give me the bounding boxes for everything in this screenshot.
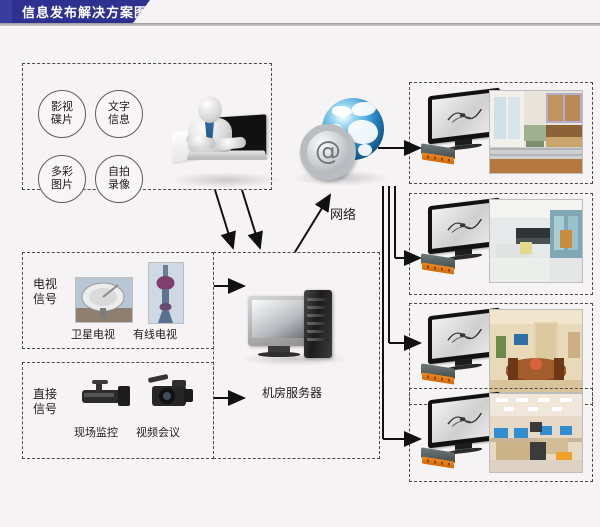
globe-at-icon — [300, 98, 386, 170]
room-photo-2 — [489, 199, 583, 283]
title-divider — [0, 23, 600, 26]
source-circle-1-line2: 碟片 — [51, 114, 73, 127]
arrow-sources-to-server-a — [215, 190, 233, 248]
direct-signal-label-line2: 信号 — [33, 402, 57, 417]
source-circle-2: 文字 信息 — [95, 90, 143, 138]
media-player-box-1 — [421, 146, 455, 165]
server-monitor-base — [258, 352, 300, 357]
room-photo-1 — [489, 90, 583, 174]
satellite-dish-icon — [75, 277, 133, 323]
video-conference-caption: 视频会议 — [136, 424, 180, 440]
tv-tower-icon — [148, 262, 184, 324]
server-monitor — [248, 296, 310, 346]
cctv-camera-icon — [78, 378, 136, 412]
direct-signal-label: 直接 信号 — [33, 387, 57, 417]
title-bar: 信息发布解决方案图 — [0, 0, 600, 26]
direct-signal-label-line1: 直接 — [33, 387, 57, 402]
source-circle-4-line2: 录像 — [108, 179, 130, 192]
media-player-box-3 — [421, 366, 455, 385]
tv-signal-label: 电视 信号 — [33, 277, 57, 307]
camcorder-icon — [142, 372, 198, 414]
at-symbol-icon — [300, 124, 356, 180]
person-at-laptop-icon — [172, 96, 282, 176]
server-caption: 机房服务器 — [262, 384, 322, 401]
media-player-box-4 — [421, 450, 455, 469]
room-photo-3 — [489, 309, 583, 393]
source-circle-4: 自拍 录像 — [95, 155, 143, 203]
room-photo-4 — [489, 393, 583, 473]
site-monitoring-caption: 现场监控 — [74, 424, 118, 440]
cable-tv-caption: 有线电视 — [133, 326, 177, 342]
arrow-sources-to-server-b — [242, 190, 260, 248]
arrow-server-to-network — [295, 195, 330, 252]
page-title: 信息发布解决方案图 — [22, 2, 148, 21]
server-tower — [304, 290, 332, 358]
banner-left-cap — [0, 0, 12, 23]
server-computer-icon — [248, 290, 338, 360]
satellite-tv-caption: 卫星电视 — [71, 326, 115, 342]
media-player-box-2 — [421, 256, 455, 275]
person-head — [198, 96, 222, 123]
source-circle-3-line2: 图片 — [51, 179, 73, 192]
source-circle-2-line2: 信息 — [108, 114, 130, 127]
source-circle-1: 影视 碟片 — [38, 90, 86, 138]
tv-signal-label-line2: 信号 — [33, 292, 57, 307]
network-caption: 网络 — [330, 208, 356, 224]
tv-signal-label-line1: 电视 — [33, 277, 57, 292]
server-screen — [252, 300, 306, 338]
title-banner: 信息发布解决方案图 — [0, 0, 150, 23]
source-circle-3: 多彩 图片 — [38, 155, 86, 203]
